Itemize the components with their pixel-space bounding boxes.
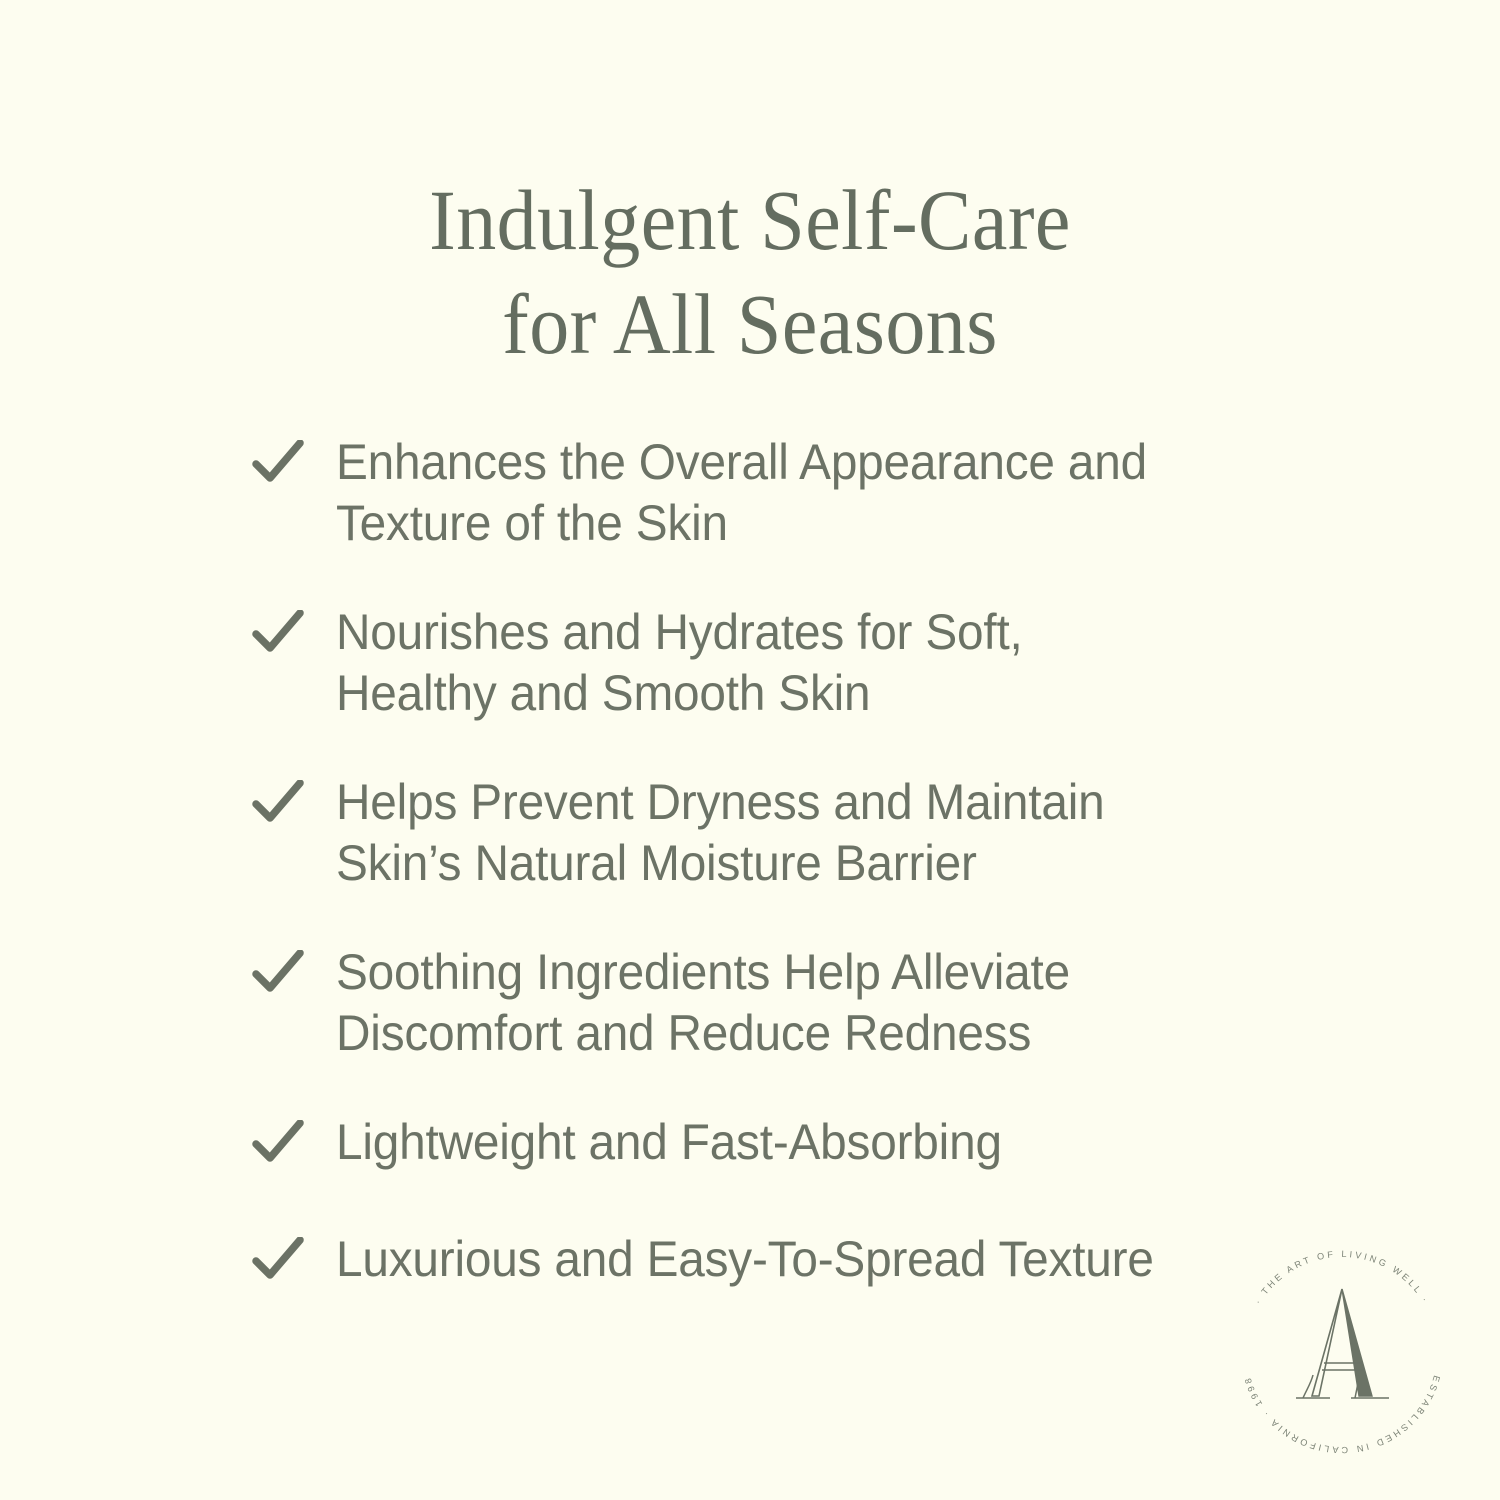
check-icon	[252, 1229, 336, 1283]
check-icon	[252, 432, 336, 486]
logo-monogram	[1296, 1289, 1389, 1398]
check-icon	[252, 772, 336, 826]
title-line-2: for All Seasons	[53, 272, 1448, 376]
brand-logo: · THE ART OF LIVING WELL · ESTABLISHED I…	[1233, 1243, 1451, 1461]
title-line-1: Indulgent Self-Care	[53, 168, 1448, 272]
list-item-label: Nourishes and Hydrates for Soft, Healthy…	[336, 602, 1157, 724]
list-item: Lightweight and Fast-Absorbing	[252, 1112, 1252, 1173]
logo-ring-bottom-text: ESTABLISHED IN CALIFORNIA · 1998	[1242, 1374, 1442, 1455]
check-icon	[252, 942, 336, 996]
promo-graphic: Indulgent Self-Care for All Seasons Enha…	[0, 0, 1500, 1500]
list-item: Nourishes and Hydrates for Soft, Healthy…	[252, 602, 1252, 724]
list-item: Soothing Ingredients Help Alleviate Disc…	[252, 942, 1252, 1064]
list-item: Luxurious and Easy-To-Spread Texture	[252, 1229, 1252, 1290]
list-item: Helps Prevent Dryness and Maintain Skin’…	[252, 772, 1252, 894]
page-title: Indulgent Self-Care for All Seasons	[0, 168, 1500, 376]
list-item-label: Enhances the Overall Appearance and Text…	[336, 432, 1157, 554]
list-item-label: Soothing Ingredients Help Alleviate Disc…	[336, 942, 1157, 1064]
logo-ring-top-text: · THE ART OF LIVING WELL ·	[1253, 1249, 1431, 1306]
check-icon	[252, 1112, 336, 1166]
list-item-label: Helps Prevent Dryness and Maintain Skin’…	[336, 772, 1157, 894]
list-item: Enhances the Overall Appearance and Text…	[252, 432, 1252, 554]
check-icon	[252, 602, 336, 656]
benefits-list: Enhances the Overall Appearance and Text…	[252, 432, 1252, 1290]
list-item-label: Lightweight and Fast-Absorbing	[336, 1112, 1157, 1173]
list-item-label: Luxurious and Easy-To-Spread Texture	[336, 1229, 1157, 1290]
